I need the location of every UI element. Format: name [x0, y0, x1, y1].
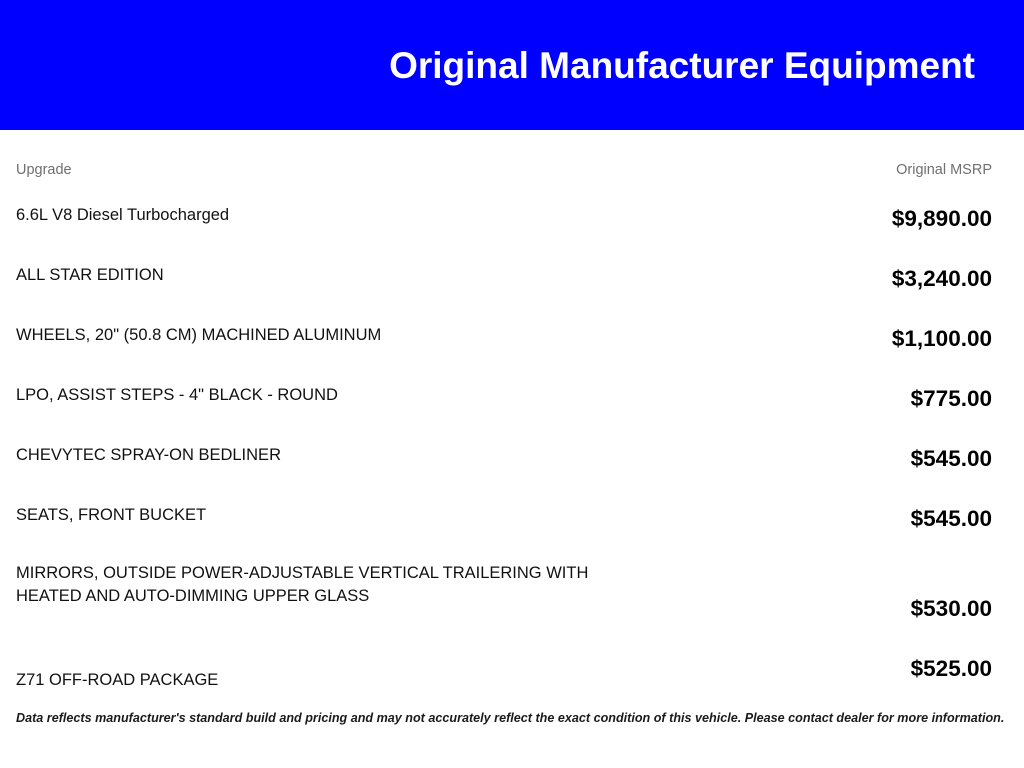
disclaimer-text: Data reflects manufacturer's standard bu…	[16, 710, 1006, 727]
row-upgrade-label: 6.6L V8 Diesel Turbocharged	[16, 204, 616, 227]
row-msrp-value: $525.00	[911, 656, 992, 682]
row-upgrade-label: CHEVYTEC SPRAY-ON BEDLINER	[16, 444, 616, 467]
column-header-upgrade: Upgrade	[16, 161, 72, 179]
row-msrp-value: $3,240.00	[892, 266, 992, 292]
row-msrp-value: $530.00	[911, 596, 992, 622]
row-upgrade-label: Z71 OFF-ROAD PACKAGE	[16, 669, 616, 692]
row-upgrade-label: ALL STAR EDITION	[16, 264, 616, 287]
row-upgrade-label: LPO, ASSIST STEPS - 4" BLACK - ROUND	[16, 384, 616, 407]
column-header-original-msrp: Original MSRP	[896, 161, 992, 179]
row-msrp-value: $545.00	[911, 446, 992, 472]
equipment-table: Upgrade Original MSRP 6.6L V8 Diesel Tur…	[0, 130, 1024, 768]
page-title: Original Manufacturer Equipment	[389, 44, 975, 88]
row-upgrade-label: MIRRORS, OUTSIDE POWER-ADJUSTABLE VERTIC…	[16, 562, 616, 608]
oem-equipment-page: Original Manufacturer Equipment Upgrade …	[0, 0, 1024, 768]
row-msrp-value: $775.00	[911, 386, 992, 412]
row-upgrade-label: SEATS, FRONT BUCKET	[16, 504, 616, 527]
row-upgrade-label: WHEELS, 20" (50.8 CM) MACHINED ALUMINUM	[16, 324, 616, 347]
row-msrp-value: $1,100.00	[892, 326, 992, 352]
row-msrp-value: $545.00	[911, 506, 992, 532]
header-banner: Original Manufacturer Equipment	[0, 0, 1024, 130]
row-msrp-value: $9,890.00	[892, 206, 992, 232]
